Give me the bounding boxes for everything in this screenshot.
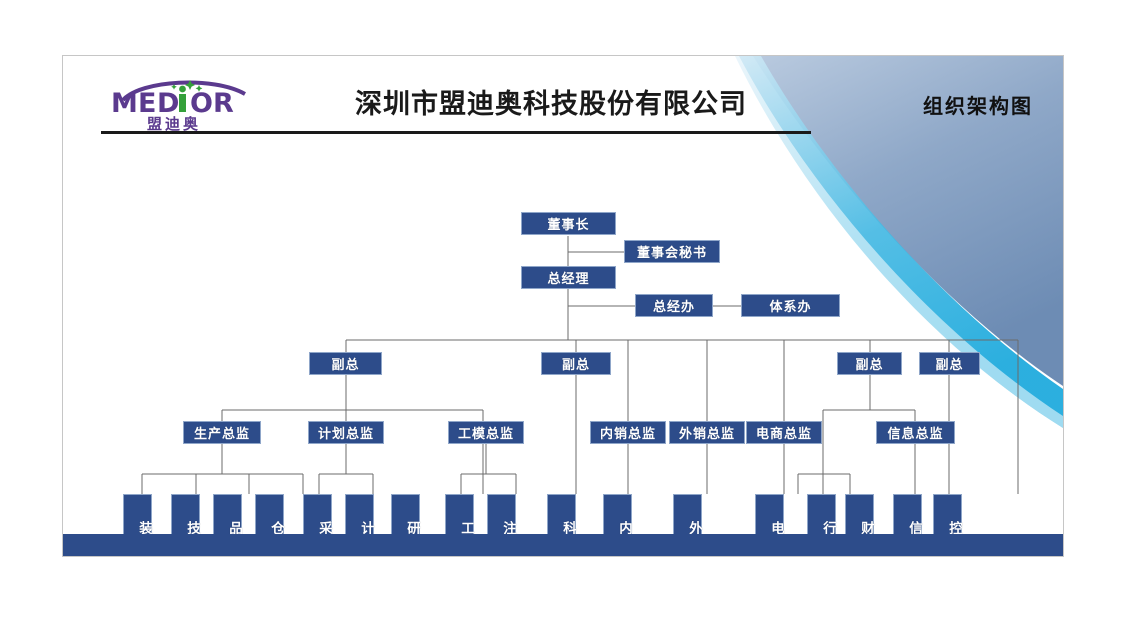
node-vp-4[interactable]: 副总	[919, 352, 980, 375]
poster-header: M E D O R 盟迪奥 深圳市盟迪奥科技股份有限公司 组织架构图	[63, 56, 1063, 144]
connector-lines	[63, 144, 1063, 534]
node-vp-2[interactable]: 副总	[541, 352, 611, 375]
node-director-domestic-sales[interactable]: 内销总监	[590, 421, 666, 444]
org-chart-poster: M E D O R 盟迪奥 深圳市盟迪奥科技股份有限公司 组织架构图	[0, 0, 1123, 623]
svg-text:M: M	[111, 88, 138, 119]
node-director-ecommerce[interactable]: 电商总监	[746, 421, 822, 444]
node-director-export-sales[interactable]: 外销总监	[669, 421, 745, 444]
bottom-accent-bar	[63, 534, 1063, 556]
node-general-manager[interactable]: 总经理	[521, 266, 616, 289]
header-rule	[101, 131, 811, 134]
node-director-mold[interactable]: 工模总监	[448, 421, 524, 444]
svg-text:盟迪奥: 盟迪奥	[147, 115, 201, 132]
medior-logo: M E D O R 盟迪奥	[105, 74, 275, 132]
node-gm-office[interactable]: 总经办	[635, 294, 713, 317]
node-director-production[interactable]: 生产总监	[183, 421, 261, 444]
node-director-information[interactable]: 信息总监	[876, 421, 955, 444]
node-chairman[interactable]: 董事长	[521, 212, 616, 235]
org-chart-body: 董事长 董事会秘书 总经理 总经办 体系办 副总 副总 副总 副总 生产总监 计…	[63, 144, 1063, 534]
node-system-office[interactable]: 体系办	[741, 294, 840, 317]
node-board-secretary[interactable]: 董事会秘书	[624, 240, 720, 263]
svg-text:R: R	[213, 88, 234, 119]
node-director-planning[interactable]: 计划总监	[308, 421, 384, 444]
poster-frame: M E D O R 盟迪奥 深圳市盟迪奥科技股份有限公司 组织架构图	[62, 55, 1064, 557]
chart-label: 组织架构图	[903, 90, 1053, 119]
company-title: 深圳市盟迪奥科技股份有限公司	[291, 82, 811, 121]
node-vp-1[interactable]: 副总	[309, 352, 382, 375]
node-vp-3[interactable]: 副总	[837, 352, 902, 375]
